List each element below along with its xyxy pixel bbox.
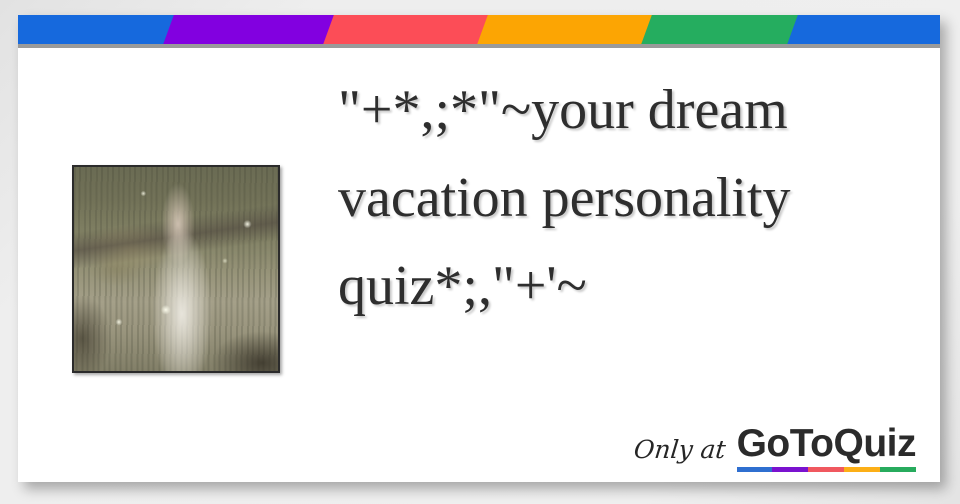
topbar-segment-red bbox=[321, 15, 494, 44]
rule-seg-green bbox=[880, 467, 916, 472]
topbar-segment-blue-2 bbox=[785, 15, 940, 44]
rule-seg-red bbox=[808, 467, 844, 472]
topbar-segment-purple bbox=[161, 15, 340, 44]
rule-seg-blue bbox=[737, 467, 773, 472]
quiz-title: "+*,;*"~your dream vacation personality … bbox=[338, 66, 898, 330]
gotoquiz-rainbow-rule bbox=[737, 467, 916, 472]
brand-only-at-label: Only at bbox=[632, 435, 727, 464]
topbar-segment-blue bbox=[18, 15, 179, 44]
quiz-thumbnail-artwork bbox=[74, 167, 278, 371]
quiz-share-card: "+*,;*"~your dream vacation personality … bbox=[18, 15, 940, 482]
topbar-segment-green bbox=[639, 15, 804, 44]
topbar-segment-orange bbox=[475, 15, 658, 44]
card-body: "+*,;*"~your dream vacation personality … bbox=[18, 48, 940, 482]
rule-seg-purple bbox=[772, 467, 808, 472]
gotoquiz-wordmark: GoToQuiz bbox=[737, 424, 916, 464]
brand-footer[interactable]: Only at GoToQuiz bbox=[634, 424, 916, 472]
rule-seg-orange bbox=[844, 467, 880, 472]
quiz-thumbnail[interactable] bbox=[72, 165, 280, 373]
page-background: "+*,;*"~your dream vacation personality … bbox=[0, 0, 960, 504]
rainbow-topbar bbox=[18, 15, 940, 44]
gotoquiz-logo[interactable]: GoToQuiz bbox=[737, 424, 916, 472]
